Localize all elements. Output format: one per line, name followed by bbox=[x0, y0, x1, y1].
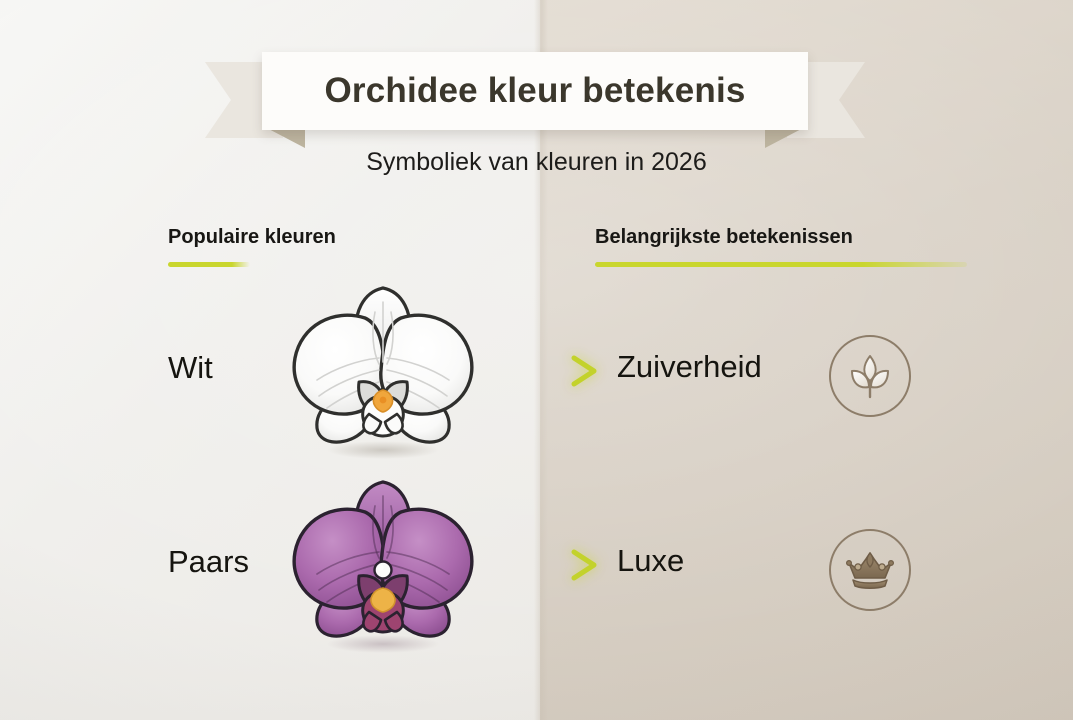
row-purple: Paars bbox=[0, 466, 1073, 666]
ribbon-plate: Orchidee kleur betekenis bbox=[262, 52, 808, 130]
column-header-rule-left bbox=[168, 262, 250, 267]
page-subtitle: Symboliek van kleuren in 2026 bbox=[0, 148, 1073, 177]
row-white: Wit bbox=[0, 272, 1073, 472]
column-header-meanings: Belangrijkste betekenissen bbox=[595, 226, 853, 249]
arrow-right-icon bbox=[492, 354, 602, 388]
column-header-rule-right bbox=[595, 262, 967, 267]
meaning-label: Zuiverheid bbox=[617, 349, 762, 385]
meaning-label: Luxe bbox=[617, 543, 684, 579]
column-header-colors: Populaire kleuren bbox=[168, 226, 336, 249]
page-title: Orchidee kleur betekenis bbox=[324, 71, 745, 111]
color-label: Wit bbox=[168, 350, 213, 386]
infographic-canvas: Orchidee kleur betekenis Symboliek van k… bbox=[0, 0, 1073, 720]
meaning-badge bbox=[829, 335, 911, 417]
color-label: Paars bbox=[168, 544, 249, 580]
meaning-badge bbox=[829, 529, 911, 611]
purple-orchid-illustration bbox=[283, 472, 483, 662]
leaf-icon bbox=[845, 351, 895, 401]
arrow-right-icon bbox=[492, 548, 602, 582]
crown-icon bbox=[844, 547, 896, 593]
title-ribbon: Orchidee kleur betekenis bbox=[205, 52, 865, 144]
white-orchid-illustration bbox=[283, 278, 483, 468]
